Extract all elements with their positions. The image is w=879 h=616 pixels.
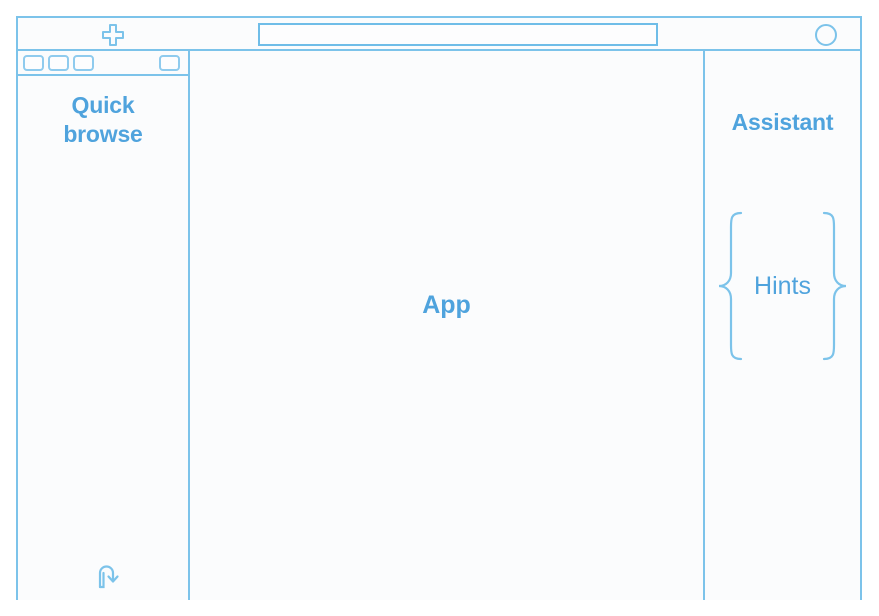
wireframe-canvas: Quick browse App Assistant xyxy=(0,0,879,616)
sidebar-toolbar-button-1[interactable] xyxy=(23,55,44,71)
sidebar-title-line-1: Quick xyxy=(72,92,135,118)
sidebar-toolbar-button-2[interactable] xyxy=(48,55,69,71)
u-turn-arrow-icon[interactable] xyxy=(93,560,123,590)
window-body: Quick browse App Assistant xyxy=(18,51,860,600)
hints-label: Hints xyxy=(705,211,860,361)
sidebar-quick-browse: Quick browse xyxy=(18,51,190,600)
circle-avatar-icon[interactable] xyxy=(815,24,837,46)
browser-window: Quick browse App Assistant xyxy=(16,16,862,600)
hints-group: Hints xyxy=(705,211,860,361)
app-label: App xyxy=(190,31,703,580)
sidebar-toolbar xyxy=(18,51,188,76)
sidebar-toolbar-button-4[interactable] xyxy=(159,55,180,71)
app-content-panel[interactable]: App xyxy=(190,51,705,600)
sidebar-toolbar-button-3[interactable] xyxy=(73,55,94,71)
plus-icon[interactable] xyxy=(101,23,125,47)
assistant-panel: Assistant Hints xyxy=(705,51,860,600)
sidebar-title: Quick browse xyxy=(18,91,188,150)
sidebar-title-line-2: browse xyxy=(18,120,188,149)
assistant-title: Assistant xyxy=(705,109,860,136)
